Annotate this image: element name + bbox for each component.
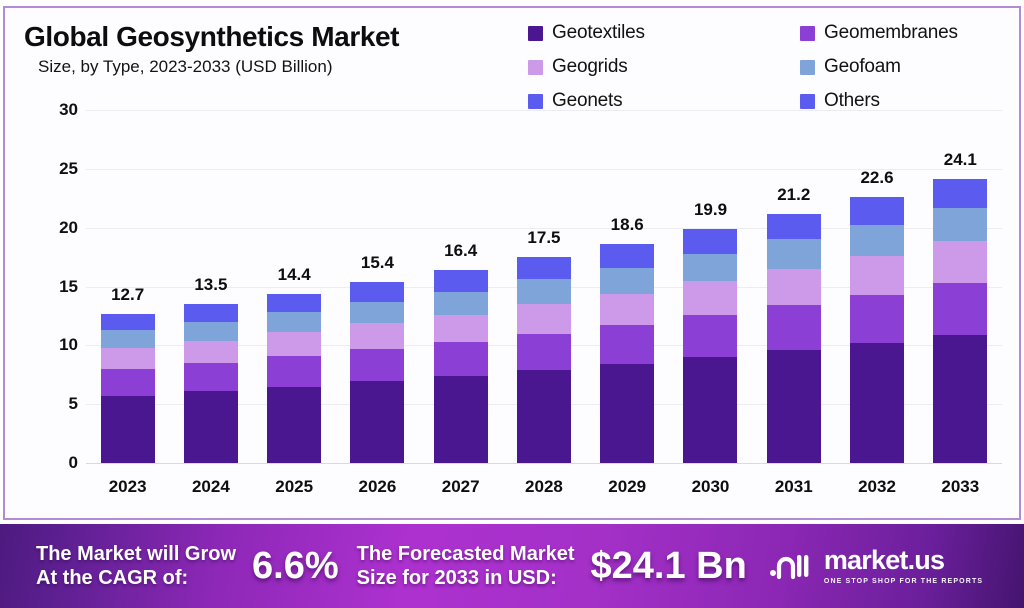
bar-segment-others[interactable] bbox=[600, 244, 654, 268]
bar-segment-geomembranes[interactable] bbox=[600, 325, 654, 364]
logo-tagline: ONE STOP SHOP FOR THE REPORTS bbox=[824, 578, 983, 585]
legend-item-geogrids[interactable]: Geogrids bbox=[528, 56, 800, 78]
bar-segment-geotextiles[interactable] bbox=[350, 381, 404, 463]
bar-stack bbox=[683, 229, 737, 463]
legend-swatch-icon bbox=[800, 26, 815, 41]
bar-segment-geogrids[interactable] bbox=[350, 323, 404, 349]
x-axis: 2023202420252026202720282029203020312032… bbox=[86, 470, 1002, 504]
x-axis-tick-label: 2031 bbox=[763, 477, 825, 497]
logo-wordmark: market.us bbox=[824, 547, 983, 574]
y-axis-tick-label: 5 bbox=[40, 394, 78, 414]
legend-item-others[interactable]: Others bbox=[800, 90, 1010, 112]
bar-segment-others[interactable] bbox=[850, 197, 904, 225]
legend-swatch-icon bbox=[800, 94, 815, 109]
x-axis-tick-label: 2030 bbox=[679, 477, 741, 497]
bar-segment-geogrids[interactable] bbox=[933, 241, 987, 283]
x-axis-tick-label: 2033 bbox=[929, 477, 991, 497]
forecast-caption: The Forecasted Market Size for 2033 in U… bbox=[357, 542, 575, 591]
bar-total-label: 16.4 bbox=[444, 241, 477, 261]
bar-segment-others[interactable] bbox=[767, 214, 821, 240]
bar-segment-geogrids[interactable] bbox=[267, 332, 321, 356]
forecast-caption-line1: The Forecasted Market bbox=[357, 543, 575, 565]
bar-stack bbox=[101, 314, 155, 463]
bar-stack bbox=[350, 282, 404, 463]
x-axis-tick-label: 2032 bbox=[846, 477, 908, 497]
frame-top-cap bbox=[0, 0, 1024, 4]
bar-segment-others[interactable] bbox=[517, 257, 571, 279]
bar-total-label: 12.7 bbox=[111, 285, 144, 305]
x-axis-tick-label: 2028 bbox=[513, 477, 575, 497]
bar-segment-geofoam[interactable] bbox=[434, 292, 488, 314]
bar-total-label: 14.4 bbox=[278, 265, 311, 285]
bar-segment-geomembranes[interactable] bbox=[350, 349, 404, 381]
bar-segment-geogrids[interactable] bbox=[850, 256, 904, 295]
bar-total-label: 21.2 bbox=[777, 185, 810, 205]
bar-segment-geofoam[interactable] bbox=[101, 330, 155, 348]
legend-label: Geofoam bbox=[824, 56, 901, 78]
legend-item-geonets[interactable]: Geonets bbox=[528, 90, 800, 112]
bar-column[interactable]: 12.7 bbox=[97, 110, 159, 463]
y-axis-tick-label: 30 bbox=[40, 100, 78, 120]
bar-total-label: 17.5 bbox=[527, 228, 560, 248]
market-us-logo[interactable]: market.us ONE STOP SHOP FOR THE REPORTS bbox=[769, 547, 983, 585]
bar-segment-geofoam[interactable] bbox=[767, 239, 821, 268]
bar-column[interactable]: 24.1 bbox=[929, 110, 991, 463]
bar-column[interactable]: 18.6 bbox=[596, 110, 658, 463]
bar-segment-geotextiles[interactable] bbox=[600, 364, 654, 463]
bar-column[interactable]: 21.2 bbox=[763, 110, 825, 463]
cagr-caption: The Market will Grow At the CAGR of: bbox=[36, 542, 236, 591]
bar-column[interactable]: 14.4 bbox=[263, 110, 325, 463]
axis-baseline bbox=[86, 463, 1002, 464]
legend-label: Geonets bbox=[552, 90, 622, 112]
bar-total-label: 18.6 bbox=[611, 215, 644, 235]
legend-item-geofoam[interactable]: Geofoam bbox=[800, 56, 1010, 78]
cagr-caption-line2: At the CAGR of: bbox=[36, 567, 188, 589]
y-axis-tick-label: 15 bbox=[40, 277, 78, 297]
bar-total-label: 13.5 bbox=[194, 275, 227, 295]
bar-segment-geogrids[interactable] bbox=[101, 348, 155, 369]
cagr-caption-line1: The Market will Grow bbox=[36, 543, 236, 565]
bar-segment-geomembranes[interactable] bbox=[850, 295, 904, 343]
bar-segment-geofoam[interactable] bbox=[267, 312, 321, 332]
bar-segment-others[interactable] bbox=[434, 270, 488, 292]
bar-segment-geofoam[interactable] bbox=[933, 208, 987, 241]
bar-segment-geofoam[interactable] bbox=[517, 279, 571, 304]
bar-total-label: 19.9 bbox=[694, 200, 727, 220]
bar-segment-geotextiles[interactable] bbox=[184, 391, 238, 463]
bar-column[interactable]: 13.5 bbox=[180, 110, 242, 463]
page-title: Global Geosynthetics Market bbox=[24, 22, 564, 52]
legend-label: Geomembranes bbox=[824, 22, 958, 44]
bar-segment-others[interactable] bbox=[184, 304, 238, 322]
bar-segment-others[interactable] bbox=[267, 294, 321, 313]
plot-area: 051015202530 12.713.514.415.416.417.518.… bbox=[40, 110, 1008, 470]
y-axis-tick-label: 20 bbox=[40, 218, 78, 238]
infographic-chart-card: Global Geosynthetics Market Size, by Typ… bbox=[0, 0, 1024, 608]
bar-segment-geotextiles[interactable] bbox=[101, 396, 155, 463]
chart-legend: GeotextilesGeomembranesGeogridsGeofoamGe… bbox=[528, 16, 1010, 118]
x-axis-tick-label: 2025 bbox=[263, 477, 325, 497]
market-us-logo-mark-icon bbox=[769, 550, 815, 582]
bar-segment-geomembranes[interactable] bbox=[101, 369, 155, 396]
bar-segment-others[interactable] bbox=[350, 282, 404, 302]
bar-stack bbox=[267, 294, 321, 463]
y-axis-tick-label: 10 bbox=[40, 335, 78, 355]
bar-stack bbox=[850, 197, 904, 463]
chart-header: Global Geosynthetics Market Size, by Typ… bbox=[24, 22, 564, 77]
bar-segment-geogrids[interactable] bbox=[683, 281, 737, 315]
bar-segment-geomembranes[interactable] bbox=[267, 356, 321, 387]
bar-segment-geogrids[interactable] bbox=[600, 294, 654, 326]
bar-segment-geomembranes[interactable] bbox=[683, 315, 737, 357]
bar-segment-geofoam[interactable] bbox=[350, 302, 404, 323]
bar-stack bbox=[434, 270, 488, 463]
legend-swatch-icon bbox=[528, 60, 543, 75]
bar-column[interactable]: 16.4 bbox=[430, 110, 492, 463]
footer-banner: The Market will Grow At the CAGR of: 6.6… bbox=[0, 524, 1024, 608]
bar-segment-geomembranes[interactable] bbox=[767, 305, 821, 350]
x-axis-tick-label: 2023 bbox=[97, 477, 159, 497]
legend-swatch-icon bbox=[800, 60, 815, 75]
y-axis-tick-label: 0 bbox=[40, 453, 78, 473]
bar-segment-geotextiles[interactable] bbox=[267, 387, 321, 463]
bar-segment-geofoam[interactable] bbox=[850, 225, 904, 256]
bar-stack bbox=[184, 304, 238, 463]
bar-stack bbox=[767, 214, 821, 463]
legend-item-geotextiles[interactable]: Geotextiles bbox=[528, 22, 800, 44]
forecast-value: $24.1 Bn bbox=[591, 547, 747, 585]
bar-stack bbox=[600, 244, 654, 463]
bar-segment-geotextiles[interactable] bbox=[850, 343, 904, 463]
legend-swatch-icon bbox=[528, 94, 543, 109]
bar-segment-geomembranes[interactable] bbox=[184, 363, 238, 391]
bar-segment-others[interactable] bbox=[683, 229, 737, 254]
bar-group: 12.713.514.415.416.417.518.619.921.222.6… bbox=[86, 110, 1002, 463]
legend-label: Others bbox=[824, 90, 880, 112]
bar-segment-geotextiles[interactable] bbox=[434, 376, 488, 463]
legend-item-geomembranes[interactable]: Geomembranes bbox=[800, 22, 1010, 44]
bar-column[interactable]: 19.9 bbox=[679, 110, 741, 463]
bar-segment-others[interactable] bbox=[933, 179, 987, 207]
x-axis-tick-label: 2027 bbox=[430, 477, 492, 497]
page-subtitle: Size, by Type, 2023-2033 (USD Billion) bbox=[38, 57, 564, 77]
bar-segment-geogrids[interactable] bbox=[434, 315, 488, 342]
x-axis-tick-label: 2026 bbox=[346, 477, 408, 497]
x-axis-tick-label: 2029 bbox=[596, 477, 658, 497]
bar-total-label: 22.6 bbox=[860, 168, 893, 188]
legend-swatch-icon bbox=[528, 26, 543, 41]
bar-stack bbox=[517, 257, 571, 463]
bar-segment-geofoam[interactable] bbox=[683, 254, 737, 281]
cagr-value: 6.6% bbox=[252, 547, 339, 585]
bar-segment-geotextiles[interactable] bbox=[767, 350, 821, 463]
bar-segment-geofoam[interactable] bbox=[600, 268, 654, 294]
bar-segment-geotextiles[interactable] bbox=[683, 357, 737, 463]
bar-segment-geomembranes[interactable] bbox=[517, 334, 571, 370]
bar-segment-others[interactable] bbox=[101, 314, 155, 330]
bar-segment-geomembranes[interactable] bbox=[933, 283, 987, 335]
forecast-caption-line2: Size for 2033 in USD: bbox=[357, 567, 557, 589]
y-axis-tick-label: 25 bbox=[40, 159, 78, 179]
market-us-logo-text: market.us ONE STOP SHOP FOR THE REPORTS bbox=[824, 547, 983, 585]
x-axis-tick-label: 2024 bbox=[180, 477, 242, 497]
bar-column[interactable]: 17.5 bbox=[513, 110, 575, 463]
legend-label: Geotextiles bbox=[552, 22, 645, 44]
bar-segment-geogrids[interactable] bbox=[184, 341, 238, 363]
bar-total-label: 15.4 bbox=[361, 253, 394, 273]
bar-stack bbox=[933, 179, 987, 463]
bar-column[interactable]: 22.6 bbox=[846, 110, 908, 463]
bar-segment-geogrids[interactable] bbox=[517, 304, 571, 333]
bar-segment-geotextiles[interactable] bbox=[517, 370, 571, 463]
bar-total-label: 24.1 bbox=[944, 150, 977, 170]
bar-segment-geogrids[interactable] bbox=[767, 269, 821, 305]
bar-segment-geomembranes[interactable] bbox=[434, 342, 488, 376]
y-axis: 051015202530 bbox=[40, 110, 82, 463]
bar-column[interactable]: 15.4 bbox=[346, 110, 408, 463]
bar-segment-geofoam[interactable] bbox=[184, 322, 238, 341]
legend-label: Geogrids bbox=[552, 56, 628, 78]
bar-segment-geotextiles[interactable] bbox=[933, 335, 987, 463]
